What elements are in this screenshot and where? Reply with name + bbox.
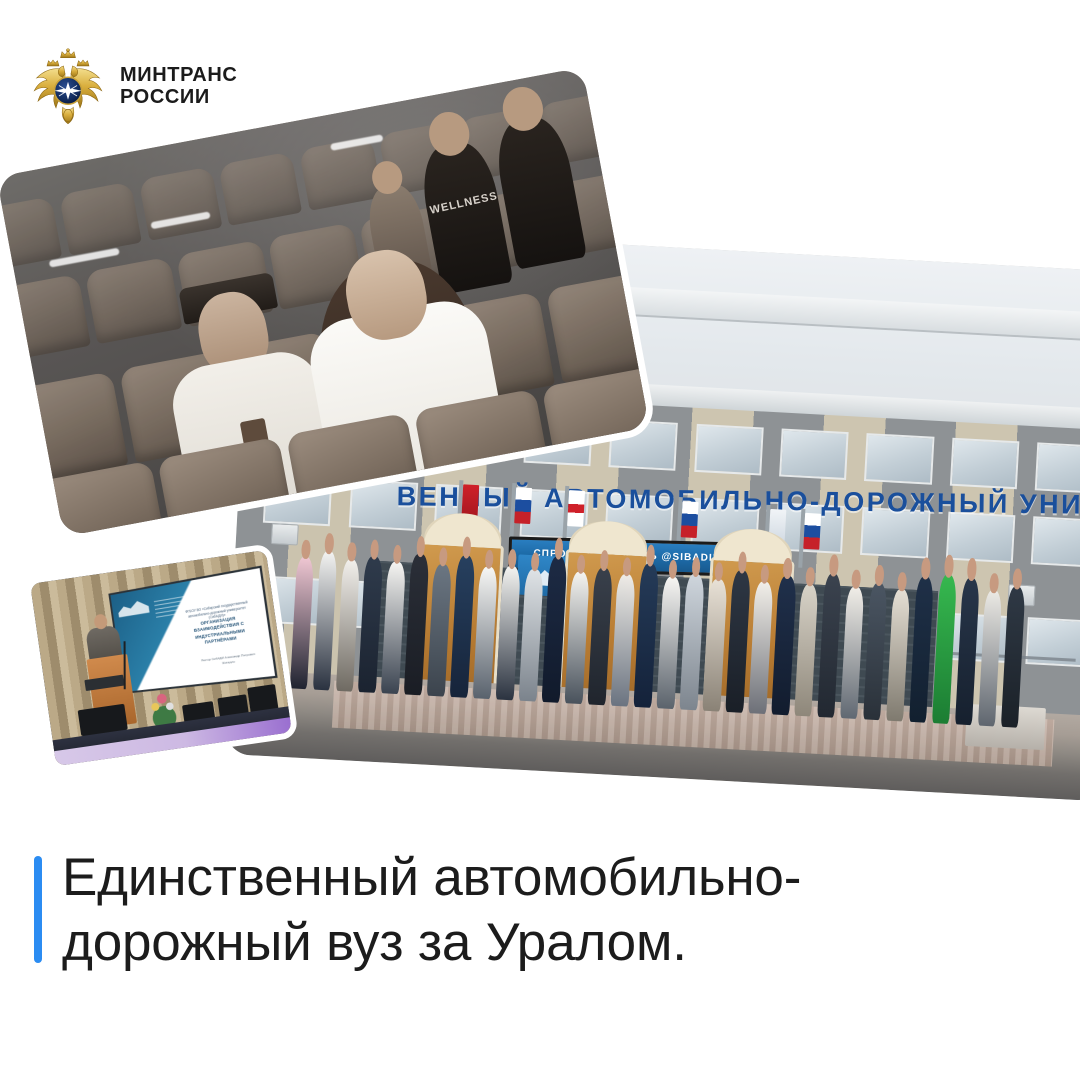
caption-block: Единственный автомобильно-дорожный вуз з… bbox=[34, 846, 1034, 975]
brand-logo-block: МИНТРАНС РОССИИ bbox=[30, 48, 237, 126]
microphone-stand bbox=[123, 641, 125, 689]
sibadi-logo-icon bbox=[117, 597, 150, 618]
brand-line-2: РОССИИ bbox=[120, 87, 237, 109]
brand-wordmark: МИНТРАНС РОССИИ bbox=[120, 65, 237, 108]
slide-footer: Ректор СибАДИ Александр Петрович Жигадло bbox=[196, 651, 264, 669]
facade-university-sign: ВЕННЫЙ АВТОМОБИЛЬНО-ДОРОЖНЫЙ УНИВЕРСИТЕ bbox=[397, 474, 1080, 531]
russian-double-headed-eagle-emblem-icon bbox=[30, 48, 106, 126]
conference-photo: ФГБОУ ВО «Сибирский государственный авто… bbox=[23, 543, 298, 773]
brand-line-1: МИНТРАНС bbox=[120, 65, 237, 87]
air-conditioner-icon bbox=[271, 523, 298, 546]
caption-accent-bar bbox=[34, 856, 42, 963]
caption-text: Единственный автомобильно-дорожный вуз з… bbox=[62, 846, 892, 975]
